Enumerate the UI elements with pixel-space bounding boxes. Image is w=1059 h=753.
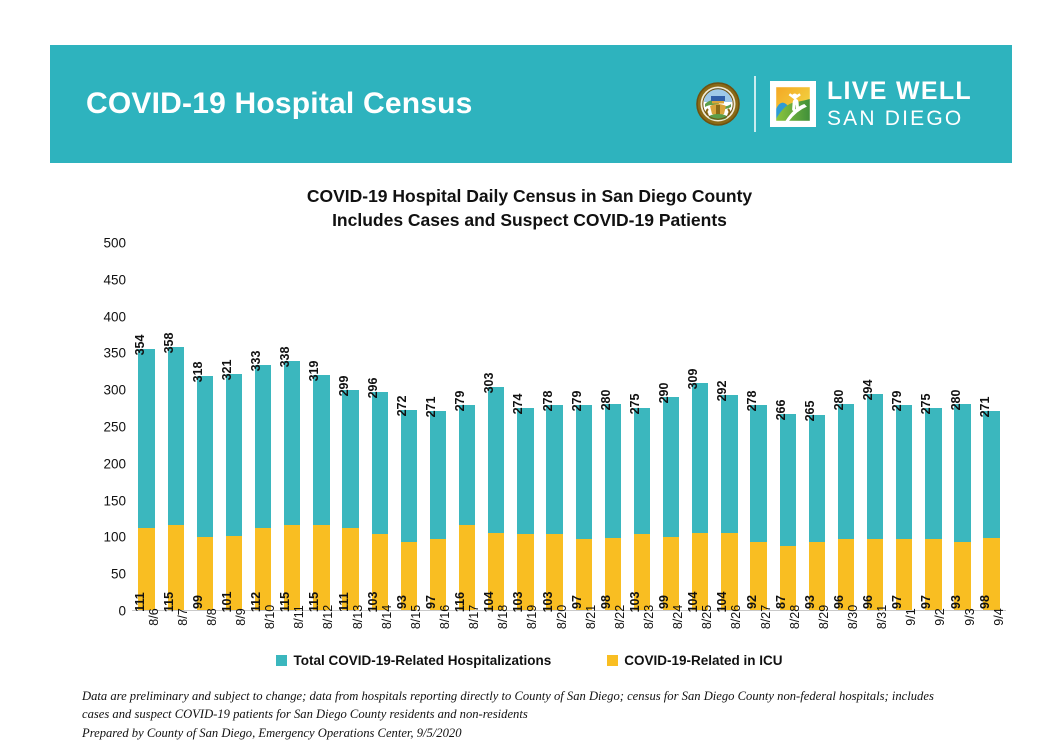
total-value-text: 321 xyxy=(220,359,234,380)
stacked-bar[interactable]: 279116 xyxy=(459,405,475,610)
bar-segment-total[interactable] xyxy=(168,347,184,526)
bar-slot[interactable]: 27198 xyxy=(977,243,1006,610)
bar-segment-icu[interactable]: 98 xyxy=(983,538,999,610)
x-axis-tick-label: 8/23 xyxy=(642,605,656,629)
total-value-text: 266 xyxy=(774,400,788,421)
page-title: COVID-19 Hospital Census xyxy=(86,87,473,121)
bar-slot[interactable]: 309104 xyxy=(686,243,715,610)
county-seal-icon xyxy=(696,82,740,126)
x-axis-tick-label: 8/11 xyxy=(292,605,306,628)
total-value-text: 278 xyxy=(541,391,555,412)
total-value-text: 280 xyxy=(599,389,613,410)
legend-item[interactable]: COVID-19-Related in ICU xyxy=(607,653,782,668)
icu-value-text: 93 xyxy=(949,595,963,609)
bar-segment-total[interactable] xyxy=(867,394,883,540)
chart-legend: Total COVID-19-Related HospitalizationsC… xyxy=(0,653,1059,668)
bar-segment-icu[interactable]: 104 xyxy=(721,533,737,610)
bar-segment-total[interactable] xyxy=(983,411,999,538)
stacked-bar[interactable]: 26593 xyxy=(809,415,825,610)
total-value-text: 280 xyxy=(949,389,963,410)
bar-slot[interactable]: 26593 xyxy=(802,243,831,610)
total-value-text: 279 xyxy=(890,390,904,411)
stacked-bar[interactable]: 274103 xyxy=(517,408,533,610)
bar-segment-total[interactable] xyxy=(634,408,650,535)
bar-segment-total[interactable] xyxy=(838,404,854,539)
icu-value-text: 103 xyxy=(366,592,380,613)
x-axis-tick-label: 9/1 xyxy=(904,608,918,625)
bar-segment-icu[interactable]: 97 xyxy=(576,539,592,610)
stacked-bar[interactable]: 27597 xyxy=(925,408,941,610)
stacked-bar[interactable]: 27293 xyxy=(401,410,417,610)
bar-segment-icu[interactable]: 103 xyxy=(372,534,388,610)
y-axis-tick: 50 xyxy=(111,567,126,582)
y-axis-tick: 100 xyxy=(103,530,126,545)
total-value-text: 279 xyxy=(453,390,467,411)
bar-segment-icu[interactable]: 104 xyxy=(692,533,708,610)
icu-value-text: 115 xyxy=(278,592,292,612)
stacked-bar[interactable]: 354111 xyxy=(138,349,154,610)
x-axis-tick-label: 8/14 xyxy=(380,605,394,629)
x-axis-tick-label: 8/21 xyxy=(584,605,598,629)
bar-series-container: 3541113581153189932110133311233811531911… xyxy=(132,243,1006,610)
total-value-text: 272 xyxy=(395,395,409,416)
live-well-wordmark: LIVE WELL SAN DIEGO xyxy=(827,79,972,129)
stacked-bar[interactable]: 28098 xyxy=(605,404,621,610)
bar-slot[interactable]: 303104 xyxy=(482,243,511,610)
y-axis-tick: 250 xyxy=(103,420,126,435)
bar-slot[interactable]: 27997 xyxy=(569,243,598,610)
icu-value-text: 98 xyxy=(599,595,613,609)
bar-slot[interactable]: 29496 xyxy=(861,243,890,610)
icu-value-text: 104 xyxy=(686,592,700,613)
y-axis-tick: 500 xyxy=(103,236,126,251)
y-axis-tick: 400 xyxy=(103,309,126,324)
total-value-text: 309 xyxy=(686,368,700,389)
x-axis-tick-label: 8/6 xyxy=(147,608,161,625)
bar-segment-total[interactable] xyxy=(430,411,446,539)
stacked-bar[interactable]: 28093 xyxy=(954,404,970,610)
bar-slot[interactable]: 333112 xyxy=(249,243,278,610)
bar-segment-total[interactable] xyxy=(255,365,271,528)
bar-segment-icu[interactable]: 101 xyxy=(226,536,242,610)
x-axis-tick-label: 8/22 xyxy=(613,605,627,629)
bar-slot[interactable]: 27892 xyxy=(744,243,773,610)
stacked-bar[interactable]: 26687 xyxy=(780,414,796,610)
bar-slot[interactable]: 299111 xyxy=(336,243,365,610)
plot-area: 3541113581153189932110133311233811531911… xyxy=(132,243,1006,611)
bar-segment-icu[interactable]: 98 xyxy=(605,538,621,610)
x-axis-tick-label: 8/18 xyxy=(496,605,510,629)
bar-segment-icu[interactable]: 87 xyxy=(780,546,796,610)
bar-slot[interactable]: 28096 xyxy=(831,243,860,610)
bar-slot[interactable]: 27293 xyxy=(394,243,423,610)
x-axis-tick-label: 8/17 xyxy=(467,605,481,629)
icu-value-text: 104 xyxy=(482,592,496,613)
bar-segment-icu[interactable]: 111 xyxy=(342,528,358,610)
bar-segment-total[interactable] xyxy=(459,405,475,525)
x-axis-tick-label: 8/9 xyxy=(234,608,248,625)
total-value-text: 265 xyxy=(803,401,817,422)
bar-slot[interactable]: 27597 xyxy=(919,243,948,610)
bar-segment-icu[interactable]: 97 xyxy=(896,539,912,610)
icu-value-text: 103 xyxy=(541,592,555,613)
icu-value-text: 93 xyxy=(395,595,409,609)
bar-segment-total[interactable] xyxy=(692,383,708,534)
total-value-text: 354 xyxy=(133,335,147,356)
legend-item[interactable]: Total COVID-19-Related Hospitalizations xyxy=(276,653,551,668)
x-axis-tick-label: 8/26 xyxy=(729,605,743,629)
icu-value-text: 96 xyxy=(832,595,846,609)
bar-slot[interactable]: 319115 xyxy=(307,243,336,610)
legend-label: COVID-19-Related in ICU xyxy=(624,653,782,668)
total-value-text: 279 xyxy=(570,390,584,411)
total-value-text: 275 xyxy=(919,393,933,414)
total-value-text: 274 xyxy=(511,394,525,415)
covid-hospital-census-page: COVID-19 Hospital Census xyxy=(0,0,1059,753)
stacked-bar[interactable]: 275103 xyxy=(634,408,650,610)
bar-slot[interactable]: 27197 xyxy=(423,243,452,610)
chart-title-line2: Includes Cases and Suspect COVID-19 Pati… xyxy=(0,208,1059,232)
icu-value-text: 97 xyxy=(919,595,933,609)
stacked-bar[interactable]: 31899 xyxy=(197,376,213,610)
logo-divider xyxy=(754,76,756,132)
bar-segment-icu[interactable]: 93 xyxy=(954,542,970,610)
stacked-bar[interactable]: 358115 xyxy=(168,347,184,610)
live-well-line1: LIVE WELL xyxy=(827,79,972,104)
y-axis-tick: 300 xyxy=(103,383,126,398)
bar-slot[interactable]: 28098 xyxy=(598,243,627,610)
bar-segment-total[interactable] xyxy=(809,415,825,542)
bar-slot[interactable]: 28093 xyxy=(948,243,977,610)
bar-segment-total[interactable] xyxy=(896,405,912,539)
bar-segment-total[interactable] xyxy=(605,404,621,538)
icu-value-text: 97 xyxy=(424,595,438,609)
legend-swatch-icon xyxy=(607,655,618,666)
icu-value-text: 93 xyxy=(803,595,817,609)
bar-slot[interactable]: 278103 xyxy=(540,243,569,610)
live-well-san-diego-logo: LIVE WELL SAN DIEGO xyxy=(770,79,972,129)
x-axis-tick-label: 9/2 xyxy=(933,608,947,625)
icu-value-text: 115 xyxy=(307,592,321,612)
y-axis-tick: 350 xyxy=(103,346,126,361)
total-value-text: 358 xyxy=(162,332,176,353)
bar-segment-total[interactable] xyxy=(488,387,504,533)
stacked-bar[interactable]: 299111 xyxy=(342,390,358,610)
bar-segment-total[interactable] xyxy=(780,414,796,546)
total-value-text: 319 xyxy=(307,361,321,382)
icu-value-text: 104 xyxy=(715,592,729,613)
bar-segment-icu[interactable]: 103 xyxy=(546,534,562,610)
bar-segment-total[interactable] xyxy=(546,405,562,534)
bar-segment-total[interactable] xyxy=(197,376,213,537)
icu-value-text: 96 xyxy=(861,595,875,609)
total-value-text: 303 xyxy=(482,373,496,394)
bar-segment-icu[interactable]: 92 xyxy=(750,542,766,610)
y-axis-tick: 450 xyxy=(103,272,126,287)
icu-value-text: 103 xyxy=(628,592,642,613)
bar-segment-icu[interactable]: 93 xyxy=(401,542,417,610)
total-value-text: 299 xyxy=(337,376,351,397)
header-logo-group: LIVE WELL SAN DIEGO xyxy=(696,76,972,132)
stacked-bar[interactable]: 28096 xyxy=(838,404,854,610)
x-axis-tick-label: 9/3 xyxy=(963,608,977,625)
x-axis-tick-label: 8/12 xyxy=(321,605,335,629)
icu-value-text: 103 xyxy=(511,592,525,613)
bar-segment-total[interactable] xyxy=(663,397,679,538)
bar-slot[interactable]: 292104 xyxy=(715,243,744,610)
x-axis-tick-label: 8/13 xyxy=(351,605,365,629)
bar-segment-total[interactable] xyxy=(517,408,533,534)
icu-value-text: 101 xyxy=(220,592,234,613)
icu-value-text: 111 xyxy=(133,592,147,611)
x-axis-tick-label: 8/25 xyxy=(700,605,714,629)
stacked-bar[interactable]: 29496 xyxy=(867,394,883,610)
stacked-bar[interactable]: 27892 xyxy=(750,405,766,610)
bar-segment-icu[interactable]: 111 xyxy=(138,528,154,610)
icu-value-text: 115 xyxy=(162,592,176,612)
bar-segment-icu[interactable]: 115 xyxy=(313,525,329,610)
icu-value-text: 97 xyxy=(570,595,584,609)
stacked-bar[interactable]: 27198 xyxy=(983,411,999,610)
bar-segment-icu[interactable]: 103 xyxy=(634,534,650,610)
icu-value-text: 112 xyxy=(249,592,263,612)
bar-segment-icu[interactable]: 103 xyxy=(517,534,533,610)
icu-value-text: 97 xyxy=(890,595,904,609)
legend-swatch-icon xyxy=(276,655,287,666)
bar-segment-icu[interactable]: 93 xyxy=(809,542,825,610)
legend-label: Total COVID-19-Related Hospitalizations xyxy=(293,653,551,668)
bar-slot[interactable]: 274103 xyxy=(511,243,540,610)
stacked-bar[interactable]: 278103 xyxy=(546,405,562,610)
bar-segment-total[interactable] xyxy=(372,392,388,534)
x-axis-tick-label: 8/29 xyxy=(817,605,831,629)
icu-value-text: 116 xyxy=(453,592,467,612)
bar-segment-total[interactable] xyxy=(721,395,737,533)
bar-slot[interactable]: 321101 xyxy=(219,243,248,610)
total-value-text: 294 xyxy=(861,379,875,400)
stacked-bar[interactable]: 27197 xyxy=(430,411,446,610)
total-value-text: 333 xyxy=(249,350,263,371)
total-value-text: 280 xyxy=(832,389,846,410)
bar-segment-icu[interactable]: 116 xyxy=(459,525,475,610)
bar-slot[interactable]: 26687 xyxy=(773,243,802,610)
bar-segment-total[interactable] xyxy=(226,374,242,536)
total-value-text: 271 xyxy=(424,396,438,417)
chart-title: COVID-19 Hospital Daily Census in San Di… xyxy=(0,184,1059,232)
x-axis-tick-label: 8/31 xyxy=(875,605,889,629)
bar-segment-total[interactable] xyxy=(401,410,417,542)
footnote: Data are preliminary and subject to chan… xyxy=(82,687,990,742)
total-value-text: 278 xyxy=(745,391,759,412)
icu-value-text: 99 xyxy=(657,595,671,609)
page-header-band: COVID-19 Hospital Census xyxy=(50,45,1012,163)
bar-slot[interactable]: 296103 xyxy=(365,243,394,610)
x-axis-tick-label: 8/27 xyxy=(759,605,773,629)
y-axis: 050100150200250300350400450500 xyxy=(86,243,126,611)
total-value-text: 290 xyxy=(657,382,671,403)
bar-slot[interactable]: 27997 xyxy=(890,243,919,610)
stacked-bar[interactable]: 338115 xyxy=(284,361,300,610)
bar-slot[interactable]: 279116 xyxy=(453,243,482,610)
footnote-line-2: cases and suspect COVID-19 patients for … xyxy=(82,705,990,723)
bar-segment-icu[interactable]: 97 xyxy=(925,539,941,610)
bar-segment-total[interactable] xyxy=(342,390,358,528)
bar-slot[interactable]: 354111 xyxy=(132,243,161,610)
x-axis-tick-label: 8/16 xyxy=(438,605,452,629)
bar-segment-total[interactable] xyxy=(576,405,592,539)
bar-segment-icu[interactable]: 99 xyxy=(663,537,679,610)
chart-plot: 050100150200250300350400450500 354111358… xyxy=(86,243,1006,618)
x-axis-tick-label: 8/8 xyxy=(205,608,219,625)
bar-segment-icu[interactable]: 96 xyxy=(867,539,883,610)
icu-value-text: 92 xyxy=(745,595,759,609)
x-axis-tick-label: 8/30 xyxy=(846,605,860,629)
bar-slot[interactable]: 29099 xyxy=(657,243,686,610)
bar-segment-total[interactable] xyxy=(313,375,329,525)
total-value-text: 275 xyxy=(628,393,642,414)
stacked-bar[interactable]: 27997 xyxy=(896,405,912,610)
stacked-bar[interactable]: 29099 xyxy=(663,397,679,610)
bar-segment-icu[interactable]: 96 xyxy=(838,539,854,610)
bar-segment-icu[interactable]: 115 xyxy=(168,525,184,610)
stacked-bar[interactable]: 309104 xyxy=(692,383,708,610)
x-axis-tick-label: 8/24 xyxy=(671,605,685,629)
y-axis-tick: 200 xyxy=(103,456,126,471)
live-well-line2: SAN DIEGO xyxy=(827,108,972,129)
footnote-line-1: Data are preliminary and subject to chan… xyxy=(82,687,990,705)
bar-segment-icu[interactable]: 99 xyxy=(197,537,213,610)
total-value-text: 292 xyxy=(715,381,729,402)
x-axis-tick-label: 9/4 xyxy=(992,608,1006,625)
stacked-bar[interactable]: 319115 xyxy=(313,375,329,610)
bar-segment-total[interactable] xyxy=(954,404,970,542)
x-axis-tick-label: 8/28 xyxy=(788,605,802,629)
stacked-bar[interactable]: 296103 xyxy=(372,392,388,610)
stacked-bar[interactable]: 292104 xyxy=(721,395,737,610)
icu-value-text: 111 xyxy=(337,592,351,611)
bar-slot[interactable]: 358115 xyxy=(161,243,190,610)
bar-slot[interactable]: 31899 xyxy=(190,243,219,610)
stacked-bar[interactable]: 333112 xyxy=(255,365,271,610)
icu-value-text: 98 xyxy=(978,595,992,609)
bar-segment-total[interactable] xyxy=(138,349,154,528)
bar-segment-total[interactable] xyxy=(750,405,766,542)
x-axis-tick-label: 8/15 xyxy=(409,605,423,629)
bar-segment-icu[interactable]: 97 xyxy=(430,539,446,610)
stacked-bar[interactable]: 321101 xyxy=(226,374,242,610)
y-axis-tick: 0 xyxy=(118,604,126,619)
total-value-text: 271 xyxy=(978,396,992,417)
live-well-icon xyxy=(770,81,816,127)
bar-slot[interactable]: 338115 xyxy=(278,243,307,610)
icu-value-text: 87 xyxy=(774,595,788,609)
chart-title-line1: COVID-19 Hospital Daily Census in San Di… xyxy=(0,184,1059,208)
icu-value-text: 99 xyxy=(191,595,205,609)
y-axis-tick: 150 xyxy=(103,493,126,508)
total-value-text: 338 xyxy=(278,347,292,368)
bar-segment-icu[interactable]: 115 xyxy=(284,525,300,610)
bar-segment-total[interactable] xyxy=(925,408,941,539)
bar-slot[interactable]: 275103 xyxy=(627,243,656,610)
x-axis-tick-label: 8/20 xyxy=(555,605,569,629)
bar-segment-total[interactable] xyxy=(284,361,300,525)
bar-segment-icu[interactable]: 112 xyxy=(255,528,271,610)
bar-segment-icu[interactable]: 104 xyxy=(488,533,504,610)
x-axis-tick-label: 8/19 xyxy=(525,605,539,629)
total-value-text: 296 xyxy=(366,378,380,399)
stacked-bar[interactable]: 27997 xyxy=(576,405,592,610)
footnote-line-3: Prepared by County of San Diego, Emergen… xyxy=(82,724,990,742)
stacked-bar[interactable]: 303104 xyxy=(488,387,504,610)
x-axis-tick-label: 8/7 xyxy=(176,608,190,625)
x-axis-tick-label: 8/10 xyxy=(263,605,277,629)
total-value-text: 318 xyxy=(191,362,205,383)
